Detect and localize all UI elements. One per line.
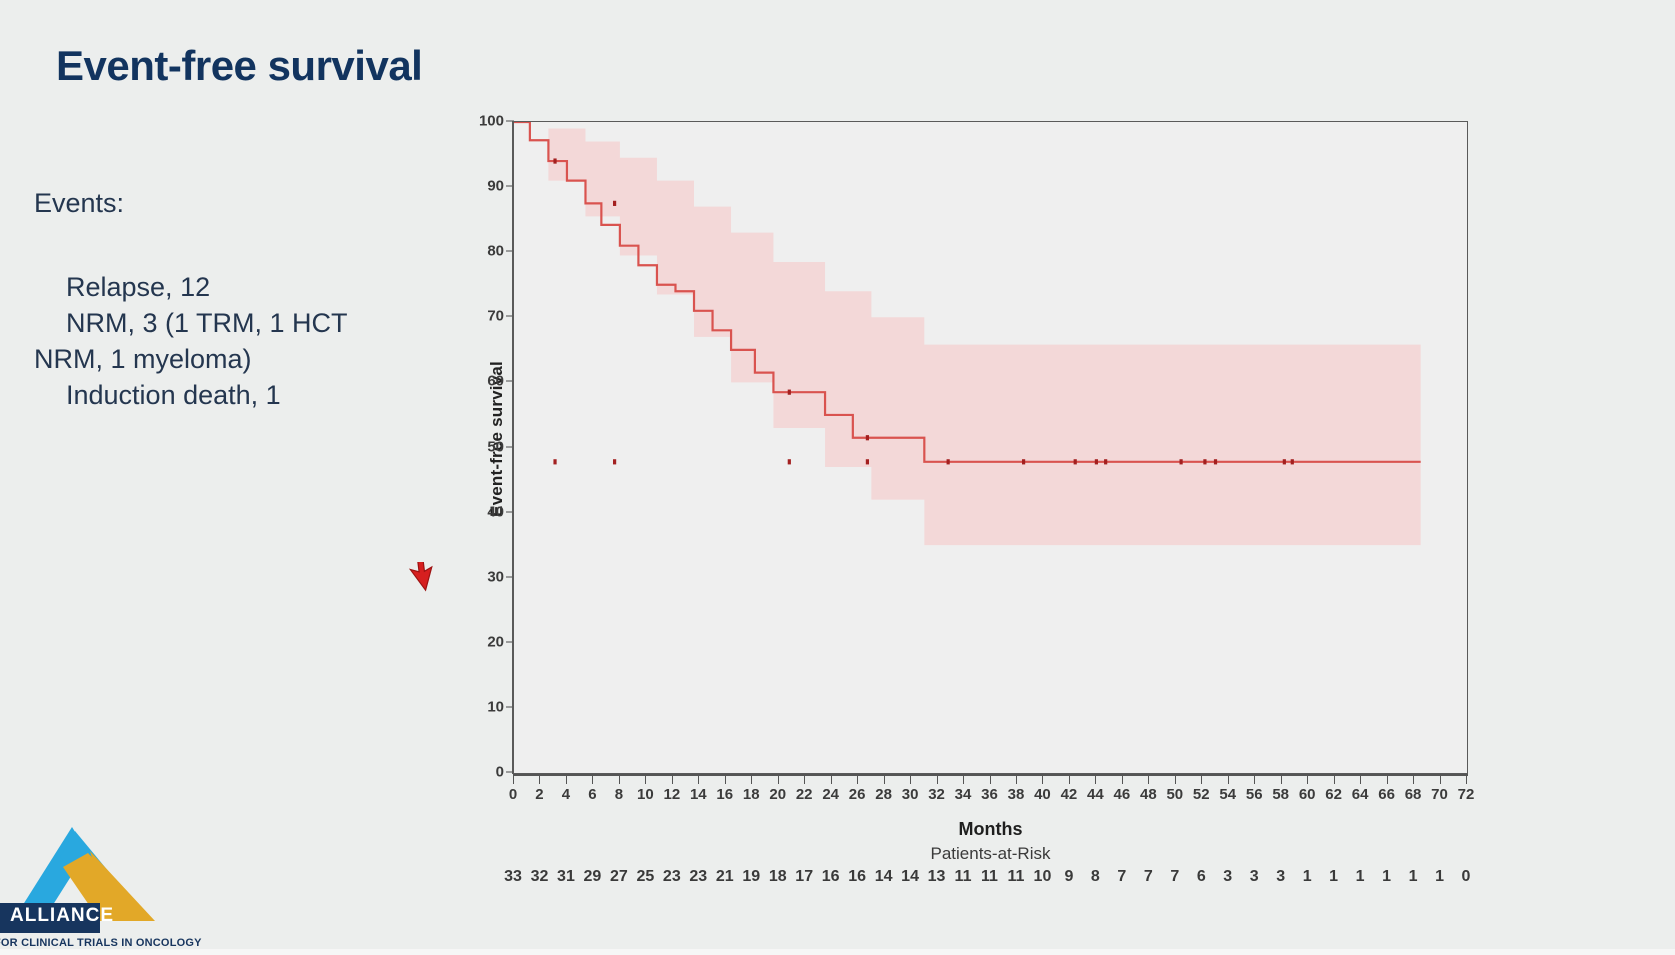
x-tick-mark [513,776,514,784]
x-tick-mark [1016,776,1017,784]
patients-at-risk-value: 33 [504,868,522,886]
x-tick-label: 0 [509,786,517,803]
x-tick-label: 8 [615,786,623,803]
censor-mark [1180,459,1183,464]
censor-mark [553,459,556,464]
patients-at-risk-value: 16 [848,868,866,886]
x-tick-label: 38 [1008,786,1025,803]
x-tick-mark [539,776,540,784]
x-tick-mark [1201,776,1202,784]
x-tick-mark [804,776,805,784]
x-tick-mark [1360,776,1361,784]
x-tick-mark [1069,776,1070,784]
x-tick-mark [1440,776,1441,784]
x-tick-mark [592,776,593,784]
censor-mark [788,390,791,395]
x-tick-mark [990,776,991,784]
patients-at-risk-value: 25 [636,868,654,886]
patients-at-risk-value: 1 [1435,868,1444,886]
censor-mark [1283,459,1286,464]
patients-at-risk-value: 7 [1170,868,1179,886]
patients-at-risk-value: 19 [742,868,760,886]
x-tick-label: 62 [1325,786,1342,803]
x-tick-mark [937,776,938,784]
y-tick-label: 30 [464,568,504,585]
x-tick-mark [1281,776,1282,784]
patients-at-risk-value: 29 [584,868,602,886]
censor-mark [1291,459,1294,464]
patients-at-risk-value: 14 [875,868,893,886]
x-tick-mark [884,776,885,784]
x-tick-mark [725,776,726,784]
x-tick-mark [1122,776,1123,784]
x-tick-label: 50 [1166,786,1183,803]
events-text-block: Events: Relapse, 12 NRM, 3 (1 TRM, 1 HCT… [34,186,414,414]
x-tick-label: 28 [875,786,892,803]
x-tick-mark [1466,776,1467,784]
patients-at-risk-value: 1 [1409,868,1418,886]
patients-at-risk-value: 18 [769,868,787,886]
x-tick-mark [1254,776,1255,784]
patients-at-risk-label: Patients-at-Risk [513,844,1468,864]
x-tick-label: 20 [769,786,786,803]
x-tick-mark [778,776,779,784]
censor-mark [613,201,616,206]
x-tick-label: 14 [690,786,707,803]
patients-at-risk-value: 0 [1462,868,1471,886]
bottom-strip [0,949,1675,955]
patients-at-risk-value: 11 [955,868,972,886]
patients-at-risk-value: 13 [928,868,946,886]
x-axis-title: Months [513,819,1468,840]
page-title: Event-free survival [56,42,422,90]
kaplan-meier-plot [514,122,1467,773]
patients-at-risk-value: 11 [1008,868,1025,886]
y-tick-label: 60 [464,373,504,390]
censor-mark [866,435,869,440]
x-tick-label: 42 [1061,786,1078,803]
x-tick-label: 24 [822,786,839,803]
x-tick-label: 16 [716,786,733,803]
patients-at-risk-value: 23 [689,868,707,886]
x-tick-label: 56 [1246,786,1263,803]
x-tick-label: 58 [1272,786,1289,803]
patients-at-risk-value: 17 [795,868,813,886]
x-tick-mark [831,776,832,784]
patients-at-risk-value: 6 [1197,868,1206,886]
events-heading: Events: [34,186,414,222]
event-line-induction-death: Induction death, 1 [34,378,414,414]
x-tick-mark [910,776,911,784]
alliance-logo-word: ALLIANCE [10,905,114,927]
x-tick-label: 70 [1431,786,1448,803]
patients-at-risk-value: 3 [1250,868,1259,886]
y-tick-label: 10 [464,698,504,715]
y-tick-label: 70 [464,308,504,325]
x-tick-mark [672,776,673,784]
y-tick-label: 0 [464,764,504,781]
censor-mark [788,459,791,464]
x-tick-label: 6 [588,786,596,803]
censor-mark [947,459,950,464]
x-tick-mark [619,776,620,784]
x-tick-label: 30 [902,786,919,803]
patients-at-risk-value: 10 [1034,868,1052,886]
patients-at-risk-value: 1 [1303,868,1312,886]
patients-at-risk-value: 21 [716,868,734,886]
x-tick-label: 46 [1114,786,1131,803]
y-axis: 0102030405060708090100 [460,121,514,774]
alliance-logo-subtitle: FOR CLINICAL TRIALS IN ONCOLOGY [0,937,202,949]
censor-mark [1022,459,1025,464]
y-tick-label: 20 [464,633,504,650]
x-tick-label: 68 [1405,786,1422,803]
x-tick-label: 36 [981,786,998,803]
chart-plot-area [513,121,1468,774]
x-tick-label: 54 [1219,786,1236,803]
x-tick-label: 66 [1378,786,1395,803]
x-tick-label: 40 [1034,786,1051,803]
x-tick-label: 72 [1458,786,1475,803]
patients-at-risk-value: 7 [1144,868,1153,886]
x-tick-mark [1042,776,1043,784]
y-tick-label: 80 [464,243,504,260]
x-tick-mark [857,776,858,784]
alliance-logo: ALLIANCE FOR CLINICAL TRIALS IN ONCOLOGY [0,779,178,955]
patients-at-risk-value: 31 [557,868,575,886]
y-tick-label: 50 [464,438,504,455]
x-tick-label: 52 [1193,786,1210,803]
x-tick-mark [1307,776,1308,784]
censor-mark [1095,459,1098,464]
censor-mark [1074,459,1077,464]
x-tick-label: 4 [562,786,570,803]
x-tick-label: 64 [1352,786,1369,803]
censor-mark [1203,459,1206,464]
event-line-nrm-cont: NRM, 1 myeloma) [34,342,414,378]
patients-at-risk-value: 11 [981,868,998,886]
patients-at-risk-value: 27 [610,868,628,886]
patients-at-risk-value: 9 [1064,868,1073,886]
patients-at-risk-value: 23 [663,868,681,886]
censor-mark [866,459,869,464]
x-tick-mark [645,776,646,784]
patients-at-risk-value: 1 [1329,868,1338,886]
x-axis-line [513,774,1468,776]
x-tick-mark [1334,776,1335,784]
x-tick-label: 34 [955,786,972,803]
y-tick-label: 90 [464,178,504,195]
patients-at-risk-value: 3 [1223,868,1232,886]
event-line-nrm: NRM, 3 (1 TRM, 1 HCT [34,306,414,342]
event-line-relapse: Relapse, 12 [34,270,414,306]
x-tick-label: 48 [1140,786,1157,803]
x-tick-label: 32 [928,786,945,803]
x-tick-label: 12 [663,786,680,803]
y-tick-label: 40 [464,503,504,520]
x-tick-label: 44 [1087,786,1104,803]
x-tick-label: 2 [535,786,543,803]
censor-mark [613,459,616,464]
patients-at-risk-value: 8 [1091,868,1100,886]
x-tick-label: 26 [849,786,866,803]
patients-at-risk-row: 3332312927252323211918171616141413111111… [513,868,1468,898]
patients-at-risk-value: 1 [1382,868,1391,886]
x-tick-label: 22 [796,786,813,803]
arrow-cursor [405,562,439,601]
patients-at-risk-value: 16 [822,868,840,886]
patients-at-risk-value: 14 [901,868,919,886]
censor-mark [1104,459,1107,464]
patients-at-risk-value: 32 [531,868,549,886]
x-axis: 0246810121416182022242628303234363840424… [513,774,1468,814]
x-tick-mark [566,776,567,784]
patients-at-risk-value: 1 [1356,868,1365,886]
x-tick-mark [1175,776,1176,784]
y-tick-label: 100 [464,113,504,130]
censor-mark [1214,459,1217,464]
x-tick-label: 10 [637,786,654,803]
censor-mark [553,158,556,163]
x-tick-mark [1387,776,1388,784]
patients-at-risk-value: 3 [1276,868,1285,886]
x-tick-mark [963,776,964,784]
x-tick-label: 18 [743,786,760,803]
x-tick-mark [1148,776,1149,784]
x-tick-mark [751,776,752,784]
x-tick-mark [1228,776,1229,784]
x-tick-mark [1095,776,1096,784]
x-tick-label: 60 [1299,786,1316,803]
x-tick-mark [698,776,699,784]
patients-at-risk-value: 7 [1117,868,1126,886]
x-tick-mark [1413,776,1414,784]
confidence-interval-band [514,122,1421,545]
